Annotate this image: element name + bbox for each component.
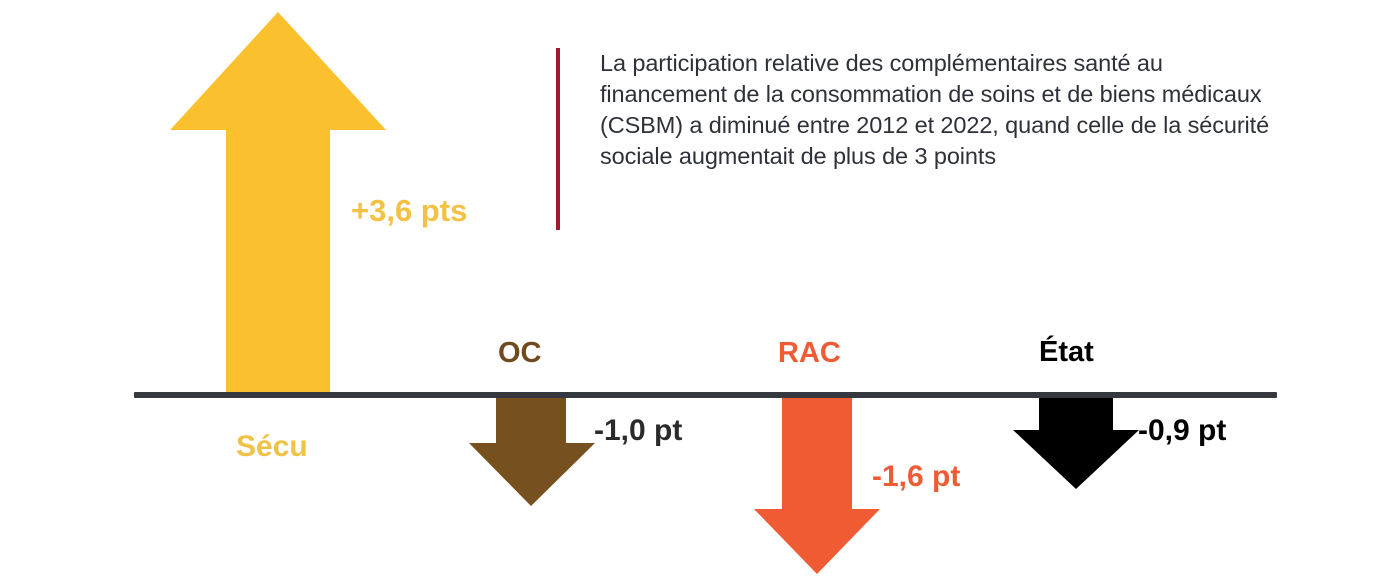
category-label-secu: Sécu [236, 430, 308, 464]
value-label-secu: +3,6 pts [351, 193, 467, 229]
category-label-oc: OC [498, 337, 542, 370]
caption-accent-rule [556, 48, 560, 230]
arrow-down-rac [752, 392, 882, 576]
category-label-rac: RAC [778, 337, 841, 370]
zero-baseline [134, 392, 1277, 398]
value-label-oc: -1,0 pt [594, 414, 682, 448]
infographic-canvas: La participation relative des complément… [0, 0, 1400, 586]
category-label-etat: État [1039, 336, 1094, 369]
caption-text: La participation relative des complément… [600, 48, 1290, 230]
caption-block: La participation relative des complément… [556, 48, 1296, 230]
value-label-etat: -0,9 pt [1138, 414, 1226, 448]
arrow-down-etat [1011, 392, 1141, 491]
value-label-rac: -1,6 pt [872, 460, 960, 494]
arrow-down-oc [467, 392, 597, 508]
